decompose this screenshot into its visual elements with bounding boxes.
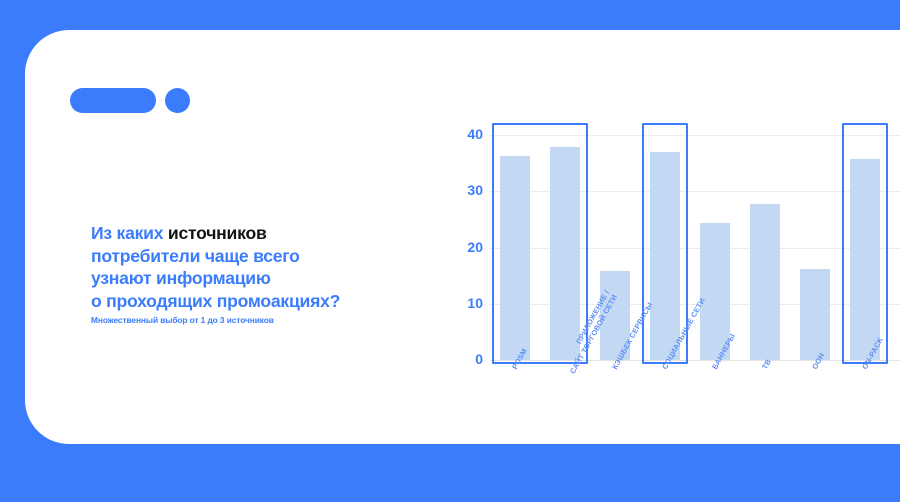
page-title: Из каких источников потребители чаще все… xyxy=(91,222,431,313)
headline-line4: о проходящих промоакциях? xyxy=(91,290,431,313)
slide-background: Из каких источников потребители чаще все… xyxy=(0,0,900,502)
content-card: Из каких источников потребители чаще все… xyxy=(25,30,900,444)
logo-mark xyxy=(70,88,190,113)
logo-pill-icon xyxy=(70,88,156,113)
headline-line3: узнают информацию xyxy=(91,267,431,290)
logo-dot-icon xyxy=(165,88,190,113)
chart-plot-area: 010203040 POSMПРИЛОЖЕНИЕ /САЙТ ТОРГОВОЙ … xyxy=(490,135,890,360)
page-subtitle: Множественный выбор от 1 до 3 источников xyxy=(91,315,451,325)
highlight-box xyxy=(842,123,888,364)
y-axis-tick-label: 20 xyxy=(443,239,483,255)
y-axis-tick-label: 40 xyxy=(443,126,483,142)
bar xyxy=(750,204,780,360)
headline-line1-emphasis: источников xyxy=(168,223,267,243)
bar-chart: 010203040 POSMПРИЛОЖЕНИЕ /САЙТ ТОРГОВОЙ … xyxy=(445,118,900,448)
y-axis-tick-label: 30 xyxy=(443,182,483,198)
bar xyxy=(800,269,830,360)
headline-line2: потребители чаще всего xyxy=(91,245,431,268)
highlight-box xyxy=(492,123,588,364)
y-axis-tick-label: 0 xyxy=(443,351,483,367)
y-axis-tick-label: 10 xyxy=(443,295,483,311)
headline-line1-accent: Из каких xyxy=(91,223,168,243)
